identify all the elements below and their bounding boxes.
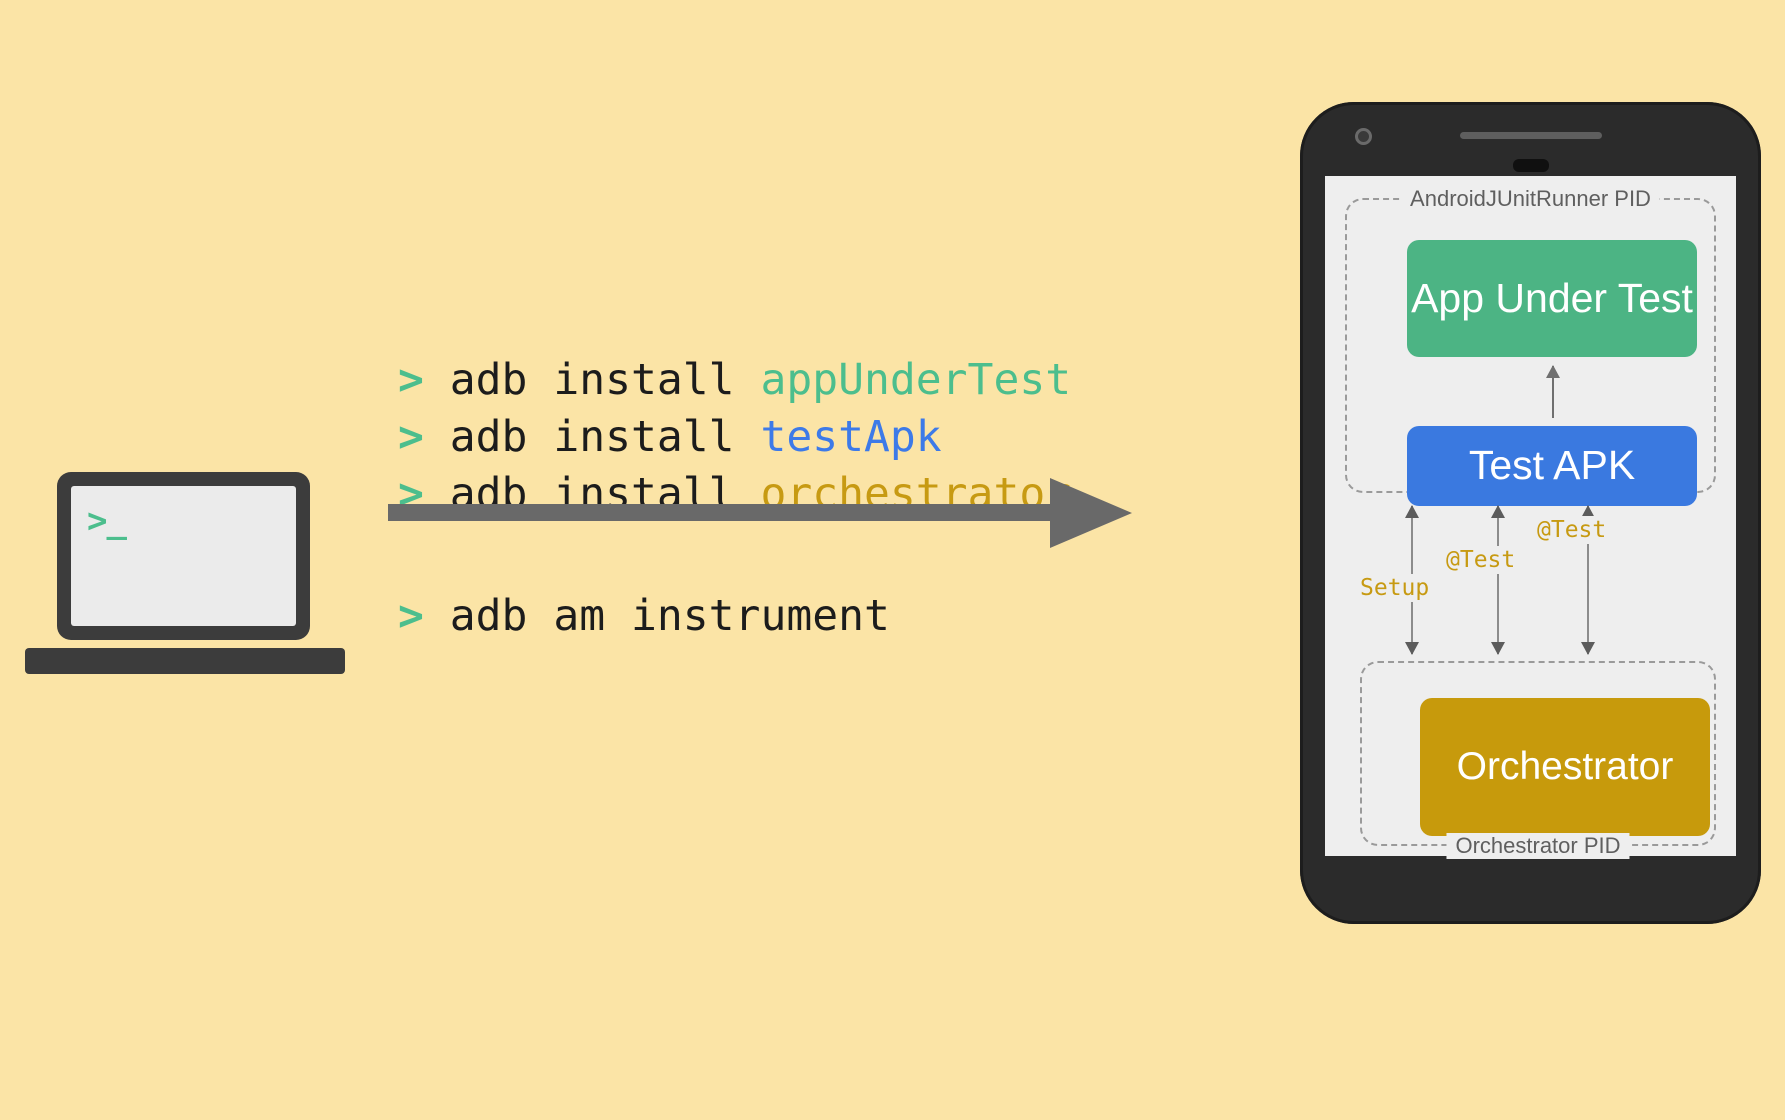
front-camera-icon [1355, 128, 1372, 145]
earpiece-speaker-icon [1460, 132, 1602, 139]
test-flow-label-2: @Test [1533, 516, 1610, 544]
command-text: adb am instrument [450, 591, 890, 641]
prompt-caret: > [398, 355, 424, 405]
arrow-shaft [388, 504, 1068, 521]
diagram-canvas: >_ > adb install appUnderTest > adb inst… [0, 0, 1785, 1120]
orchestrator-block: Orchestrator [1420, 698, 1710, 836]
laptop-illustration: >_ [25, 472, 345, 692]
terminal-instrument-line: > adb am instrument [398, 588, 890, 645]
command-text: adb install [450, 355, 761, 405]
terminal-prompt-icon: >_ [87, 504, 126, 538]
test-to-app-arrow-icon [1552, 366, 1554, 418]
test-apk-block: Test APK [1407, 426, 1697, 506]
laptop-base [25, 648, 345, 674]
test-flow-label-1: @Test [1442, 546, 1519, 574]
orchestrator-pid-label: Orchestrator PID [1446, 833, 1629, 859]
phone-screen: AndroidJUnitRunner PID App Under Test Te… [1325, 176, 1736, 856]
arrow-head [1050, 478, 1132, 548]
prompt-caret: > [398, 591, 424, 641]
prompt-caret: > [398, 412, 424, 462]
right-arrow-icon [388, 478, 1133, 548]
command-argument: appUnderTest [760, 355, 1071, 405]
command-argument: testApk [760, 412, 941, 462]
proximity-sensor-icon [1513, 159, 1549, 172]
android-phone: AndroidJUnitRunner PID App Under Test Te… [1300, 102, 1761, 924]
androidjunitrunner-pid-label: AndroidJUnitRunner PID [1401, 186, 1660, 212]
terminal-line: > adb install appUnderTest [398, 352, 1118, 409]
app-under-test-block: App Under Test [1407, 240, 1697, 357]
laptop-screen: >_ [71, 486, 296, 626]
setup-flow-label: Setup [1356, 574, 1433, 602]
terminal-line: > adb install testApk [398, 409, 1118, 466]
test-flow-arrow-icon-1 [1497, 506, 1499, 654]
androidjunitrunner-pid-container: AndroidJUnitRunner PID App Under Test Te… [1345, 198, 1716, 493]
orchestrator-pid-container: Orchestrator Orchestrator PID [1360, 661, 1716, 846]
laptop-lid: >_ [57, 472, 310, 640]
command-text: adb install [450, 412, 761, 462]
